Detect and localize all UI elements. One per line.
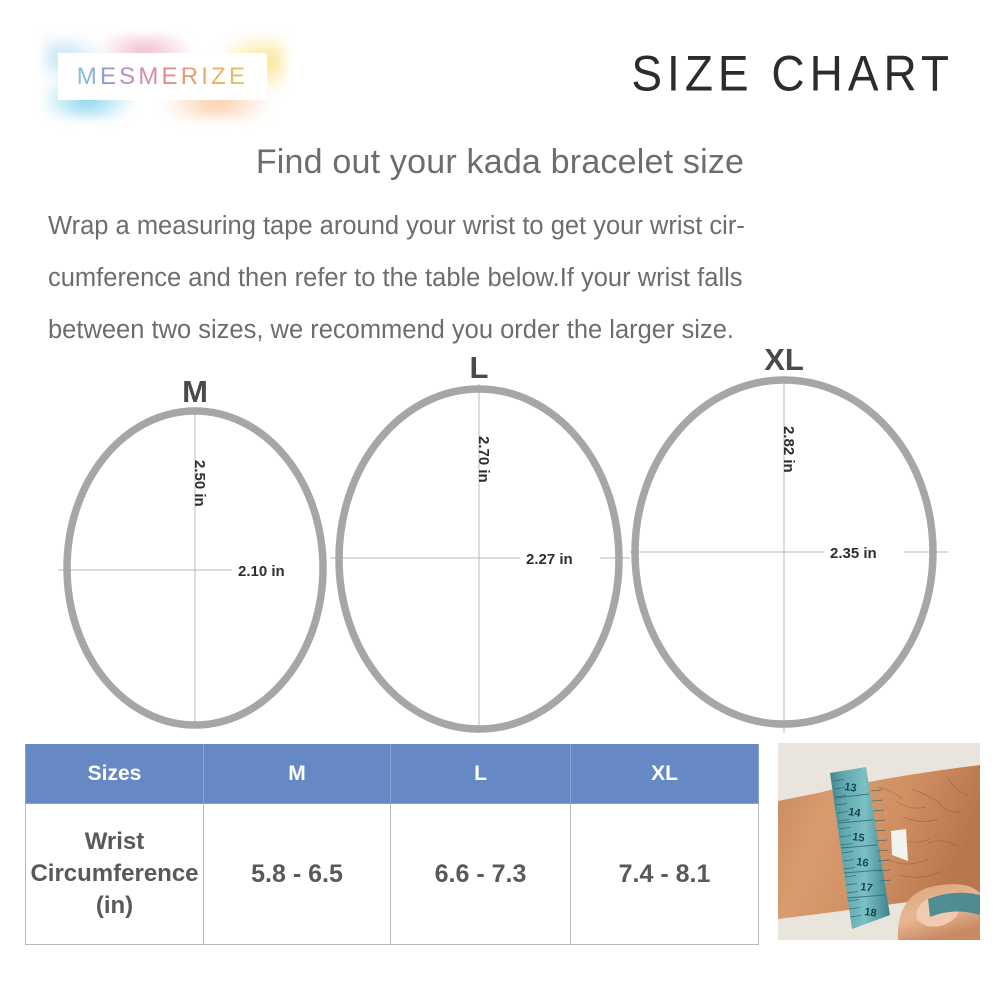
row-label-line-2: Circumference: [27, 858, 202, 890]
table-header-xl: XL: [571, 745, 759, 804]
row-label-line-3: (in): [27, 890, 202, 922]
table-header-sizes: Sizes: [26, 745, 204, 804]
intro-line-2: cumference and then refer to the table b…: [48, 252, 954, 304]
oval-xl-height-label: 2.82 in: [780, 426, 797, 473]
intro-paragraph: Wrap a measuring tape around your wrist …: [48, 200, 954, 356]
oval-l-height-label: 2.70 in: [475, 436, 492, 483]
oval-m-width-label: 2.10 in: [238, 563, 285, 580]
tape-mark-15: 15: [852, 831, 866, 845]
logo-wordmark: MESMERIZE: [77, 63, 248, 91]
oval-diagram-xl: XL 2.82 in 2.35 in: [630, 342, 948, 733]
oval-m-label: M: [182, 374, 208, 409]
oval-xl-width-label: 2.35 in: [830, 545, 877, 562]
logo-card: MESMERIZE: [58, 53, 267, 100]
table-header-row: Sizes M L XL: [26, 745, 759, 804]
page-title: SIZE CHART: [631, 44, 954, 102]
table-header-l: L: [391, 745, 571, 804]
row-label-wrist-circumference: Wrist Circumference (in): [26, 804, 204, 945]
table-header-m: M: [204, 745, 391, 804]
oval-diagram-l: L 2.70 in 2.27 in: [330, 350, 630, 733]
cell-wrist-range-m: 5.8 - 6.5: [204, 804, 391, 945]
cell-wrist-range-l: 6.6 - 7.3: [391, 804, 571, 945]
size-table: Sizes M L XL Wrist Circumference (in) 5.…: [25, 744, 759, 945]
tape-mark-17: 17: [860, 881, 874, 895]
oval-diagrams: M 2.50 in 2.10 in L 2.70 in 2.27 in XL 2…: [0, 340, 1000, 740]
oval-l-label: L: [470, 350, 489, 385]
row-label-line-1: Wrist: [27, 826, 202, 858]
table-row: Wrist Circumference (in) 5.8 - 6.5 6.6 -…: [26, 804, 759, 945]
tape-mark-13: 13: [844, 781, 858, 795]
oval-l-width-label: 2.27 in: [526, 551, 573, 568]
cell-wrist-range-xl: 7.4 - 8.1: [571, 804, 759, 945]
oval-m-height-label: 2.50 in: [191, 460, 208, 507]
wrist-measuring-photo: 13 14 15 16 17 18: [778, 743, 980, 940]
tape-mark-16: 16: [856, 856, 870, 870]
brand-logo: MESMERIZE: [44, 36, 284, 118]
oval-diagram-m: M 2.50 in 2.10 in: [58, 374, 323, 728]
oval-xl-label: XL: [764, 342, 804, 377]
headline: Find out your kada bracelet size: [0, 143, 1000, 182]
intro-line-1: Wrap a measuring tape around your wrist …: [48, 200, 954, 252]
tape-mark-18: 18: [864, 906, 878, 920]
